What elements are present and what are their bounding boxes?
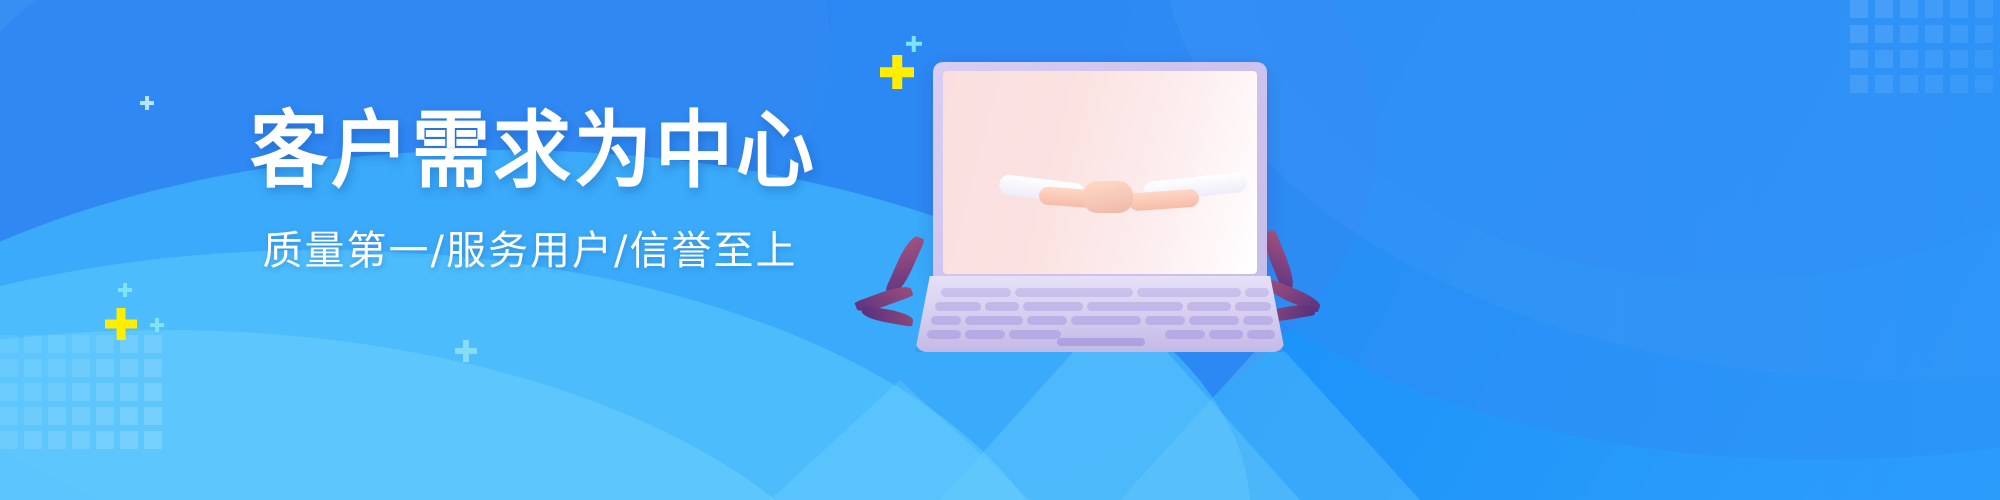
plus-cyan-small-top-icon	[906, 36, 922, 52]
grid-dot	[1900, 25, 1918, 43]
keyboard-key	[1187, 302, 1231, 311]
keyboard-key	[1243, 316, 1273, 325]
keyboard-key	[1245, 288, 1269, 297]
background-wave-bottom-pale	[0, 330, 890, 500]
keyboard-key	[965, 316, 1023, 325]
laptop-illustration	[915, 62, 1285, 352]
grid-dot	[120, 335, 138, 353]
grid-dot	[144, 407, 162, 425]
keyboard-key	[1235, 302, 1271, 311]
keyboard-key	[1209, 330, 1243, 339]
grid-dot	[144, 359, 162, 377]
grid-dot	[1925, 0, 1943, 18]
grid-dot	[1975, 50, 1993, 68]
grid-dot	[72, 335, 90, 353]
dot-grid-bottom-left	[0, 335, 170, 500]
plus-cyan-small-bottom-right-icon	[150, 318, 164, 332]
grid-dot	[1975, 0, 1993, 18]
arm-skin-right	[1128, 189, 1199, 212]
keyboard-key	[935, 302, 981, 311]
banner-text-block: 客户需求为中心 质量第一/服务用户/信誉至上	[250, 105, 810, 276]
keyboard-key	[1009, 330, 1061, 339]
keyboard-key	[965, 330, 1005, 339]
banner-subtitle: 质量第一/服务用户/信誉至上	[250, 218, 810, 276]
keyboard-key	[927, 330, 961, 339]
grid-dot	[96, 335, 114, 353]
grid-dot	[144, 431, 162, 449]
grid-dot	[48, 335, 66, 353]
grid-dot	[0, 335, 18, 353]
keyboard-key	[1247, 330, 1275, 339]
keyboard-key	[1189, 316, 1239, 325]
keyboard-key	[1071, 316, 1141, 325]
plus-yellow-large-bottom-icon	[105, 308, 137, 340]
grid-dot	[0, 383, 18, 401]
trackpad	[1057, 338, 1145, 346]
keyboard-key	[1145, 316, 1185, 325]
grid-dot	[120, 407, 138, 425]
grid-dot	[1950, 50, 1968, 68]
grid-dot	[72, 359, 90, 377]
grid-dot	[1850, 0, 1868, 18]
grid-dot	[48, 431, 66, 449]
grid-dot	[1950, 0, 1968, 18]
laptop-lid	[933, 62, 1267, 280]
background-wave-top-right	[1240, 0, 2000, 280]
grid-dot	[120, 431, 138, 449]
grid-dot	[24, 359, 42, 377]
grid-dot	[1900, 0, 1918, 18]
dot-grid-top-right	[1850, 0, 2000, 120]
grid-dot	[1875, 75, 1893, 93]
grid-dot	[1900, 50, 1918, 68]
grid-dot	[1950, 75, 1968, 93]
grid-dot	[48, 407, 66, 425]
grid-dot	[1975, 25, 1993, 43]
grid-dot	[1975, 75, 1993, 93]
keyboard-key	[941, 288, 1011, 297]
grid-dot	[72, 431, 90, 449]
grid-dot	[120, 359, 138, 377]
grid-dot	[120, 383, 138, 401]
grid-dot	[1875, 0, 1893, 18]
grid-dot	[96, 383, 114, 401]
promo-banner: 客户需求为中心 质量第一/服务用户/信誉至上	[0, 0, 2000, 500]
grid-dot	[0, 431, 18, 449]
keyboard-key	[1087, 302, 1183, 311]
grid-dot	[96, 431, 114, 449]
grid-dot	[24, 383, 42, 401]
grid-dot	[72, 407, 90, 425]
keyboard-key	[985, 302, 1019, 311]
plus-white-left-icon	[140, 96, 154, 110]
grid-dot	[72, 383, 90, 401]
grid-dot	[1875, 50, 1893, 68]
grid-dot	[144, 383, 162, 401]
background-mountain-mid	[1120, 335, 1420, 500]
grid-dot	[48, 359, 66, 377]
grid-dot	[1850, 25, 1868, 43]
stacked-hands	[1083, 181, 1133, 213]
grid-dot	[1950, 25, 1968, 43]
grid-dot	[1875, 25, 1893, 43]
grid-dot	[96, 407, 114, 425]
grid-dot	[0, 359, 18, 377]
background-mountain-small	[770, 380, 1030, 500]
leaf-left-3	[861, 305, 914, 327]
keyboard-key	[1023, 302, 1083, 311]
keyboard-key	[1015, 288, 1133, 297]
grid-dot	[1850, 75, 1868, 93]
grid-dot	[1925, 50, 1943, 68]
grid-dot	[144, 335, 162, 353]
grid-dot	[24, 407, 42, 425]
grid-dot	[24, 431, 42, 449]
banner-headline: 客户需求为中心	[250, 105, 810, 199]
keyboard-key	[931, 316, 961, 325]
grid-dot	[1850, 50, 1868, 68]
keyboard-key	[1027, 316, 1067, 325]
grid-dot	[1925, 25, 1943, 43]
grid-dot	[1900, 75, 1918, 93]
grid-dot	[96, 359, 114, 377]
keyboard-key	[1137, 288, 1241, 297]
grid-dot	[24, 335, 42, 353]
laptop-screen	[943, 71, 1257, 274]
grid-dot	[48, 383, 66, 401]
right-edge-fade	[1580, 0, 2000, 500]
plus-cyan-small-bottom-left-icon	[118, 283, 132, 297]
plus-yellow-large-top-icon	[880, 55, 914, 89]
keyboard-key	[1165, 330, 1205, 339]
grid-dot	[0, 407, 18, 425]
grid-dot	[1925, 75, 1943, 93]
plus-cyan-mid-bottom-icon	[455, 340, 477, 362]
laptop-base-keyboard	[915, 276, 1285, 352]
background-wave-right-outer	[1160, 0, 2000, 380]
